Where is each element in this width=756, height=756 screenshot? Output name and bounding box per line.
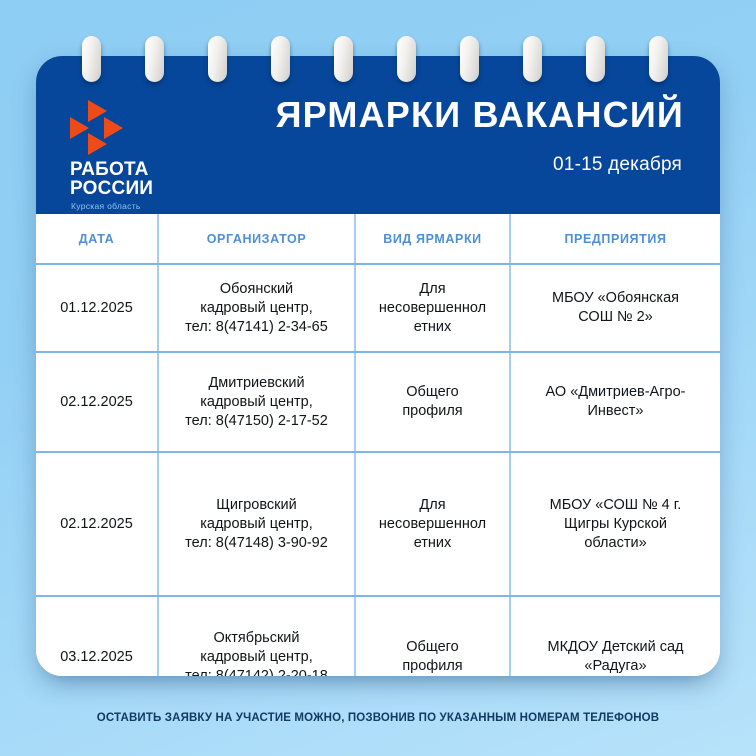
rabota-rossii-logo-icon <box>70 100 140 154</box>
cell-organizer: Обоянскийкадровый центр,тел: 8(47141) 2-… <box>158 264 355 352</box>
table-row: 02.12.2025 Щигровскийкадровый центр,тел:… <box>36 452 720 596</box>
vacancy-fairs-table: ДАТА ОРГАНИЗАТОР ВИД ЯРМАРКИ ПРЕДПРИЯТИЯ… <box>36 214 720 676</box>
cell-organizer: Октябрьскийкадровый центр,тел: 8(47142) … <box>158 596 355 676</box>
table-row: 03.12.2025 Октябрьскийкадровый центр,тел… <box>36 596 720 676</box>
table-header-row: ДАТА ОРГАНИЗАТОР ВИД ЯРМАРКИ ПРЕДПРИЯТИЯ <box>36 214 720 264</box>
cell-enterprise: МБОУ «ОбоянскаяСОШ № 2» <box>510 264 720 352</box>
cell-fair-type: Длянесовершеннолетних <box>355 452 510 596</box>
cell-date: 02.12.2025 <box>36 452 158 596</box>
table-row: 01.12.2025 Обоянскийкадровый центр,тел: … <box>36 264 720 352</box>
date-range-label: 01-15 декабря <box>553 154 682 176</box>
cell-organizer: Дмитриевскийкадровый центр,тел: 8(47150)… <box>158 352 355 452</box>
logo-word-line1: РАБОТА <box>62 160 178 179</box>
cell-fair-type: Общегопрофиля <box>355 596 510 676</box>
cell-fair-type: Общегопрофиля <box>355 352 510 452</box>
calendar-card: РАБОТА РОССИИ Курская область ЯРМАРКИ ВА… <box>36 56 720 676</box>
cell-fair-type: Длянесовершеннолетних <box>355 264 510 352</box>
logo-region-label: Курская область <box>62 198 178 211</box>
page-title: ЯРМАРКИ ВАКАНСИЙ <box>276 94 684 136</box>
column-header-date: ДАТА <box>36 214 158 264</box>
column-header-fair-type: ВИД ЯРМАРКИ <box>355 214 510 264</box>
logo-word-line2: РОССИИ <box>62 179 178 198</box>
column-header-enterprise: ПРЕДПРИЯТИЯ <box>510 214 720 264</box>
table-row: 02.12.2025 Дмитриевскийкадровый центр,те… <box>36 352 720 452</box>
logo-triangle-bottom <box>88 133 107 155</box>
column-header-organizer: ОРГАНИЗАТОР <box>158 214 355 264</box>
cell-organizer: Щигровскийкадровый центр,тел: 8(47148) 3… <box>158 452 355 596</box>
cell-enterprise: МКДОУ Детский сад«Радуга» <box>510 596 720 676</box>
logo-block: РАБОТА РОССИИ Курская область <box>62 100 178 211</box>
cell-date: 02.12.2025 <box>36 352 158 452</box>
cell-date: 01.12.2025 <box>36 264 158 352</box>
cell-date: 03.12.2025 <box>36 596 158 676</box>
poster: РАБОТА РОССИИ Курская область ЯРМАРКИ ВА… <box>0 0 756 756</box>
cell-enterprise: АО «Дмитриев-Агро-Инвест» <box>510 352 720 452</box>
logo-triangle-left <box>70 117 89 139</box>
cell-enterprise: МБОУ «СОШ № 4 г.Щигры Курскойобласти» <box>510 452 720 596</box>
footer-caption: ОСТАВИТЬ ЗАЯВКУ НА УЧАСТИЕ МОЖНО, ПОЗВОН… <box>0 712 756 724</box>
card-header: РАБОТА РОССИИ Курская область ЯРМАРКИ ВА… <box>36 56 720 214</box>
